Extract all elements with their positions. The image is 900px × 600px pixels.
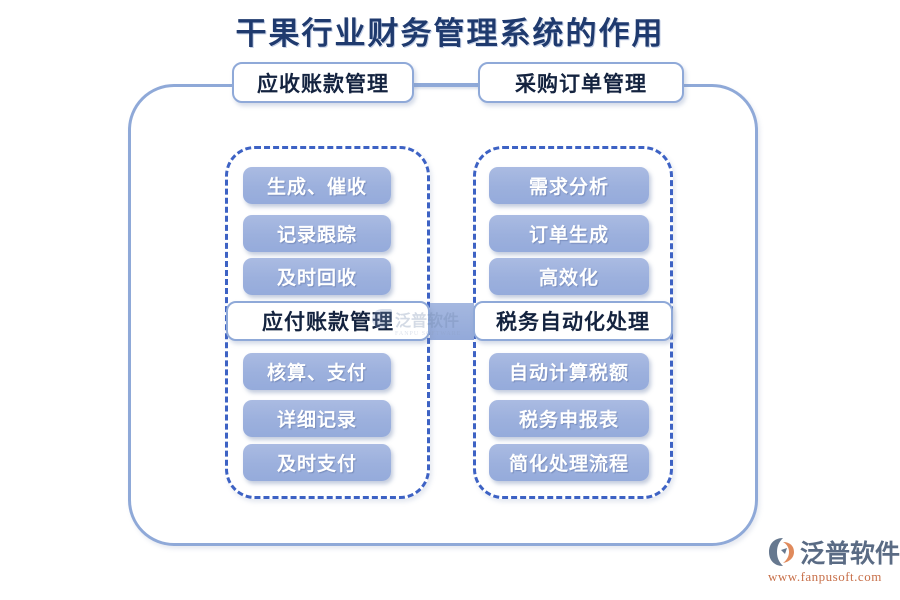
list-item[interactable]: 自动计算税额 — [489, 353, 649, 390]
list-item[interactable]: 高效化 — [489, 258, 649, 295]
list-item[interactable]: 及时支付 — [243, 444, 391, 481]
brand-url: www.fanpusoft.com — [768, 569, 892, 585]
list-item[interactable]: 核算、支付 — [243, 353, 391, 390]
header-box-purchase-order[interactable]: 采购订单管理 — [478, 62, 684, 103]
fanpu-logo-icon — [768, 537, 798, 567]
list-item[interactable]: 简化处理流程 — [489, 444, 649, 481]
list-item[interactable]: 税务申报表 — [489, 400, 649, 437]
list-item[interactable]: 详细记录 — [243, 400, 391, 437]
list-item[interactable]: 订单生成 — [489, 215, 649, 252]
brand-row: 泛普软件 — [768, 536, 892, 568]
brand-name: 泛普软件 — [800, 534, 900, 570]
list-item[interactable]: 生成、催收 — [243, 167, 391, 204]
list-item[interactable]: 记录跟踪 — [243, 215, 391, 252]
page-title: 干果行业财务管理系统的作用 — [0, 8, 900, 53]
diagram-canvas: 干果行业财务管理系统的作用 应收账款管理 采购订单管理 生成、催收 记录跟踪 及… — [0, 0, 900, 600]
brand-logo: 泛普软件 www.fanpusoft.com — [768, 536, 892, 588]
middle-connector-bar — [430, 303, 474, 340]
mid-box-tax-automation[interactable]: 税务自动化处理 — [473, 301, 673, 341]
mid-box-accounts-payable[interactable]: 应付账款管理 — [226, 301, 430, 341]
header-box-accounts-receivable[interactable]: 应收账款管理 — [232, 62, 414, 103]
list-item[interactable]: 及时回收 — [243, 258, 391, 295]
list-item[interactable]: 需求分析 — [489, 167, 649, 204]
header-connector-line — [410, 83, 482, 87]
